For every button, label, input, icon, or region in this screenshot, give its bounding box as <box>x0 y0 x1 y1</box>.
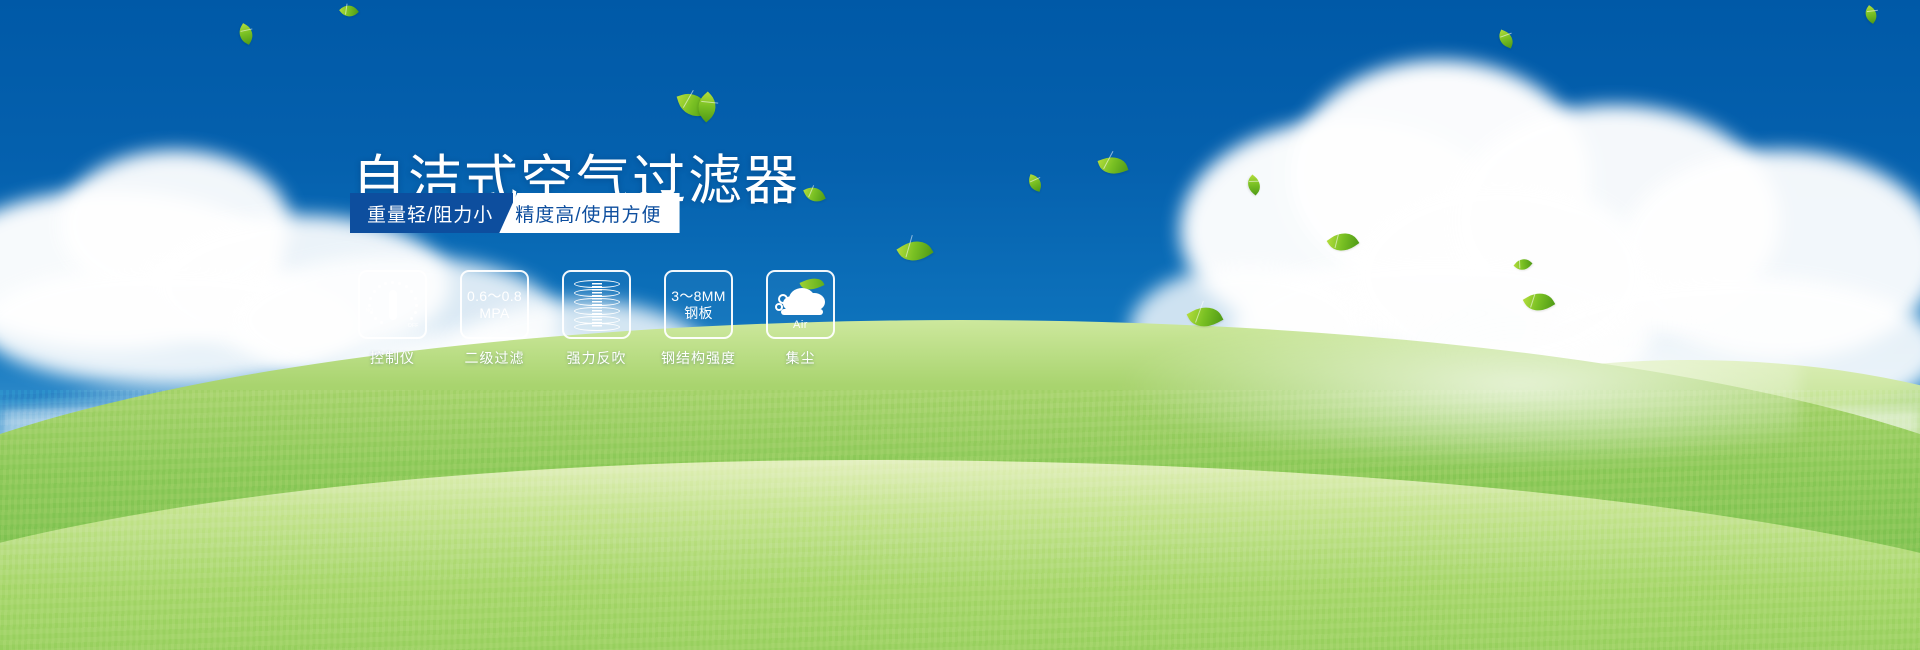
tag-lightweight-low-resistance[interactable]: 重量轻/阻力小 <box>350 193 513 233</box>
feature-item-two-stage-filtration[interactable]: 0.6～0.8 MPA 二级过滤 <box>457 270 532 368</box>
filter-cartridge-icon <box>574 280 620 330</box>
feature-tag-group: 重量轻/阻力小 精度高/使用方便 <box>350 193 680 233</box>
feature-item-steel-structure-strength[interactable]: 3～8MM 钢板 钢结构强度 <box>661 270 736 368</box>
feature-icon-box <box>562 270 631 339</box>
feature-caption: 强力反吹 <box>567 348 627 368</box>
feature-icon-box: Air <box>766 270 835 339</box>
feature-item-strong-backblow[interactable]: 强力反吹 <box>559 270 634 368</box>
pressure-value: 0.6～0.8 <box>467 288 522 305</box>
feature-icon-row: NO OFF 控制仪 0.6～0.8 MPA 二级过滤 <box>355 270 838 368</box>
tag-high-precision-easy-use[interactable]: 精度高/使用方便 <box>499 193 679 233</box>
feature-caption: 控制仪 <box>370 348 415 368</box>
pressure-unit: MPA <box>479 305 509 322</box>
feature-item-controller[interactable]: NO OFF 控制仪 <box>355 270 430 368</box>
gauge-off-label: OFF <box>408 323 419 329</box>
air-cloud-icon: Air <box>775 282 827 328</box>
feature-icon-box: 3～8MM 钢板 <box>664 270 733 339</box>
gauge-on-label: NO <box>366 308 374 314</box>
feature-icon-box: NO OFF <box>358 270 427 339</box>
feature-caption: 二级过滤 <box>465 348 525 368</box>
feature-icon-box: 0.6～0.8 MPA <box>460 270 529 339</box>
steel-thickness: 3～8MM <box>671 288 725 305</box>
feature-item-dust-collection[interactable]: Air 集尘 <box>763 270 838 368</box>
feature-caption: 钢结构强度 <box>661 348 736 368</box>
product-hero-banner: 自洁式空气过滤器 重量轻/阻力小 精度高/使用方便 <box>0 0 1920 650</box>
air-label: Air <box>775 319 827 331</box>
steel-material: 钢板 <box>684 305 713 322</box>
gauge-icon: NO OFF <box>367 279 419 331</box>
feature-caption: 集尘 <box>786 348 816 368</box>
